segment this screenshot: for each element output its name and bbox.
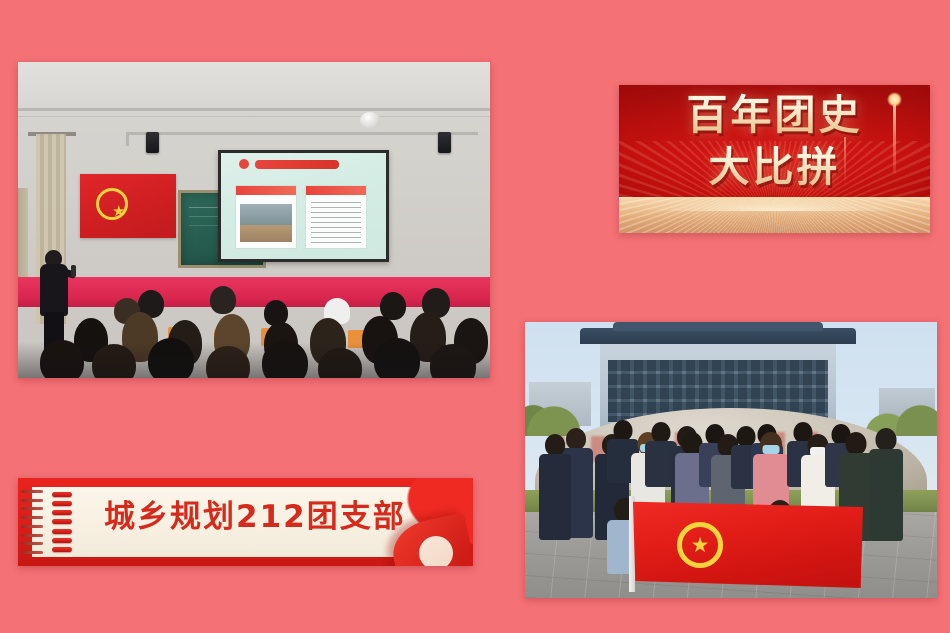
league-star-icon: ★ (691, 535, 710, 556)
presentation-slide: ★ (0, 0, 950, 633)
binding-ring-icon (52, 492, 72, 497)
projection-screen (218, 150, 389, 262)
group-person (539, 434, 571, 540)
side-door (18, 188, 28, 283)
perforation-line (21, 534, 43, 537)
perforation-line (21, 551, 43, 554)
notebook-binding-rings (52, 492, 78, 552)
perforation-line (21, 516, 43, 519)
slide-card-right-header (306, 186, 366, 195)
league-flag-group: ★ (633, 500, 863, 588)
wall-speaker-left-icon (146, 132, 159, 153)
banner-title-line-1: 百年团史 (619, 89, 930, 141)
notebook-perforations (21, 490, 43, 554)
binding-ring-icon (52, 547, 72, 552)
perforation-line (21, 507, 43, 510)
league-flag-wall: ★ (80, 174, 176, 238)
photo-lecture-hall[interactable]: ★ (18, 62, 490, 378)
perforation-line (21, 525, 43, 528)
binding-ring-icon (52, 519, 72, 524)
slide-card-left-thumbnail (240, 204, 292, 242)
group-person (869, 428, 903, 540)
banner-title-line-2: 大比拼 (619, 141, 930, 193)
binding-ring-icon (52, 538, 72, 543)
binding-ring-icon (52, 510, 72, 515)
binding-ring-icon (52, 529, 72, 534)
ribbon-silk-highlight (419, 536, 453, 566)
perforation-line (21, 499, 43, 502)
perforation-line (21, 490, 43, 493)
photo-group-portrait[interactable]: ★ (525, 322, 937, 598)
microphone-icon (71, 265, 76, 277)
banner-text-group: 百年团史 大比拼 (619, 89, 930, 193)
ribbon-title-text: 城乡规划212团支部 (104, 478, 406, 548)
slide-card-left (235, 185, 297, 249)
slide-card-right-textlines (311, 202, 361, 244)
photo-bottom-vignette (18, 342, 490, 378)
binding-ring-icon (52, 501, 72, 506)
slide-header-bar (255, 160, 339, 169)
lecture-ceiling (18, 62, 490, 117)
building-roof-upper (613, 322, 823, 331)
wall-speaker-right-icon (438, 132, 451, 153)
ceiling-conduit-drop (126, 132, 129, 146)
ceiling-conduit (126, 132, 478, 135)
title-ribbon[interactable]: 城乡规划212团支部 (18, 478, 473, 566)
league-emblem-icon: ★ (677, 522, 723, 568)
banner-floor-highlight (619, 195, 930, 211)
league-emblem-icon: ★ (96, 188, 128, 220)
ceiling-dome-light-icon (360, 112, 380, 128)
audience-head (210, 286, 236, 314)
banner-poster-100-years[interactable]: 百年团史 大比拼 (619, 85, 930, 233)
slide-card-right (305, 185, 367, 249)
stage-table (18, 277, 490, 307)
slide-bullet-icon (239, 159, 249, 169)
slide-card-left-header (236, 186, 296, 195)
perforation-line (21, 542, 43, 545)
